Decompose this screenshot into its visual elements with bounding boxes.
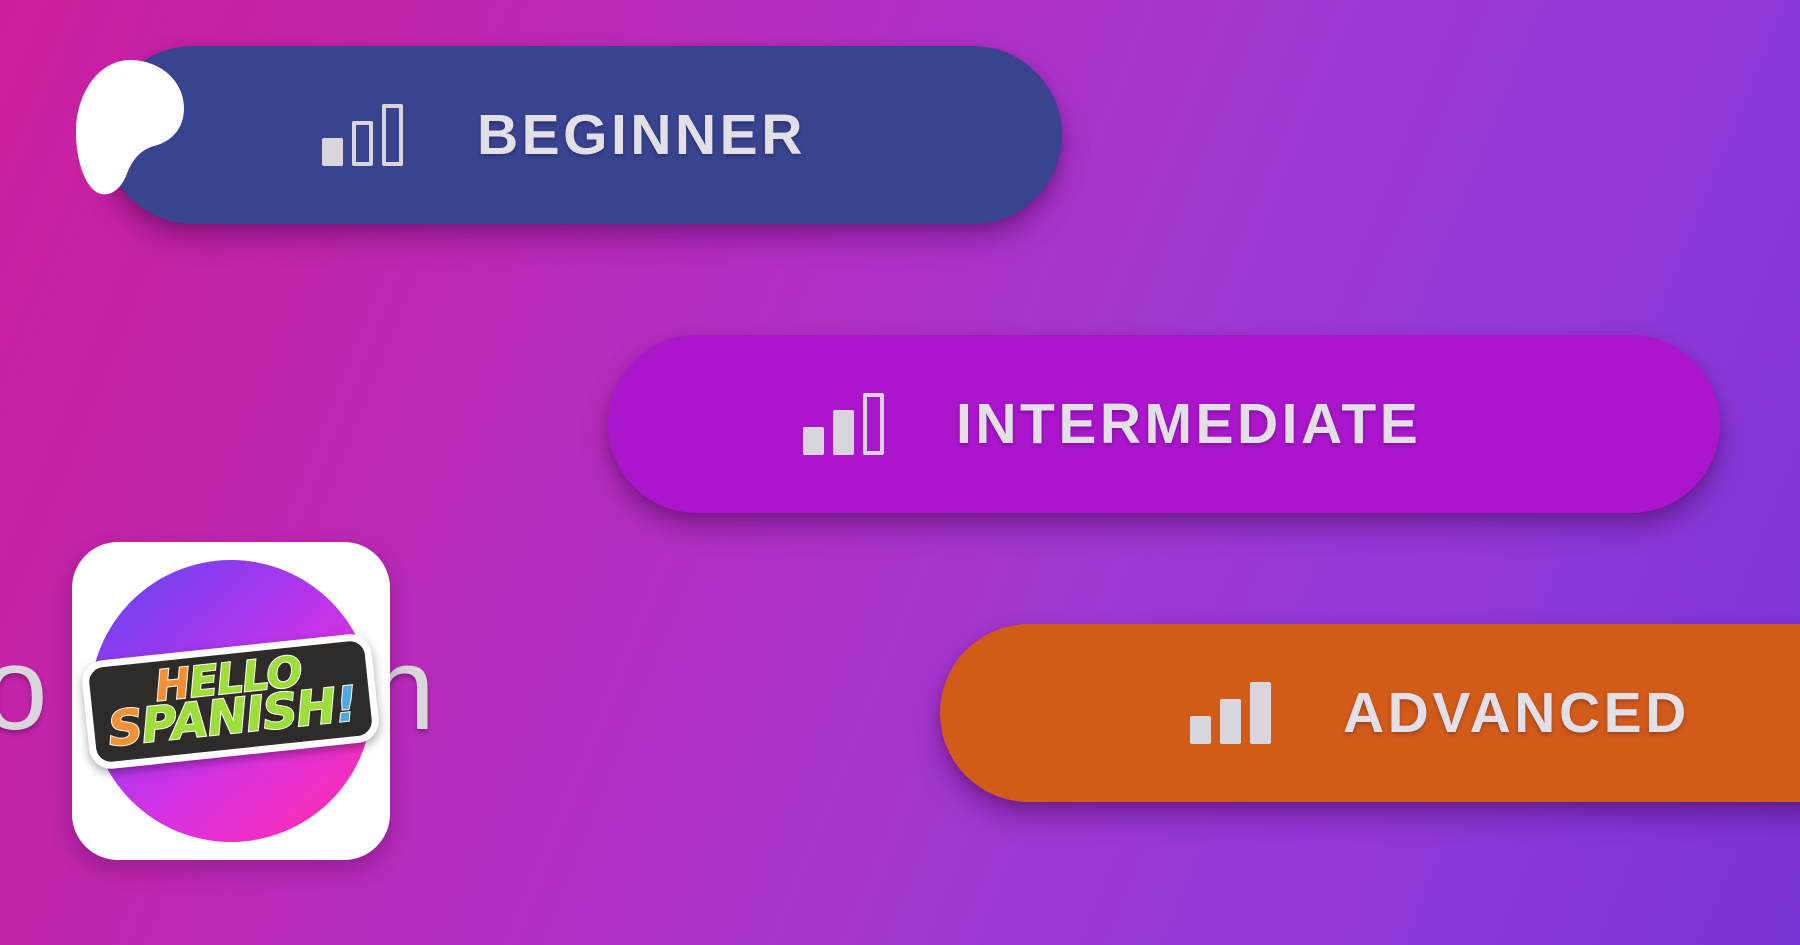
signal-bar-3 (863, 393, 884, 455)
signal-bar-3 (1250, 682, 1271, 744)
signal-bar-1 (1190, 716, 1211, 744)
signal-bar-1 (803, 427, 824, 455)
level-button-label-advanced: ADVANCED (1343, 680, 1690, 746)
level-button-label-intermediate: INTERMEDIATE (956, 391, 1421, 457)
signal-bar-1 (322, 138, 343, 166)
signal-bar-2 (1220, 699, 1241, 744)
level-button-intermediate[interactable]: INTERMEDIATE (608, 335, 1720, 513)
app-icon-logo-exclamation: ! (333, 676, 360, 734)
level-button-advanced[interactable]: ADVANCED (940, 624, 1800, 802)
signal-bar-2 (352, 121, 373, 166)
signal-bars-icon (803, 393, 884, 455)
signal-bar-2 (833, 410, 854, 455)
hello-spanish-app-icon[interactable]: HELLO SPANISH! (72, 542, 390, 860)
level-button-label-beginner: BEGINNER (477, 102, 806, 168)
level-button-beginner[interactable]: BEGINNER (104, 46, 1062, 224)
signal-bars-icon (322, 104, 403, 166)
signal-bars-icon (1190, 682, 1271, 744)
app-icon-gradient-disc: HELLO SPANISH! (90, 560, 372, 842)
signal-bar-3 (382, 104, 403, 166)
app-icon-logo-badge: HELLO SPANISH! (81, 632, 382, 771)
app-screen: o panish BEGINNER INTERMEDIATE (0, 0, 1800, 945)
